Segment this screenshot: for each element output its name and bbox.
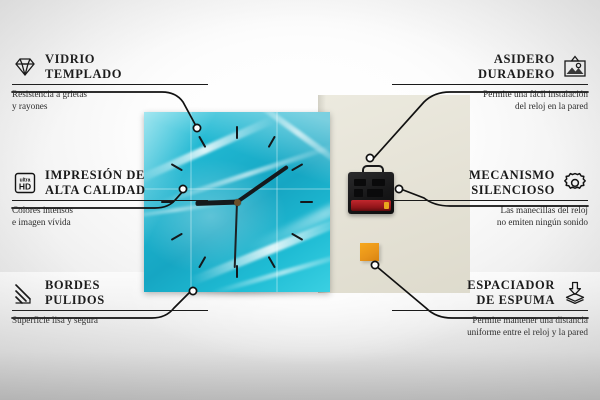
ultra-hd-icon: ultra HD <box>12 171 38 195</box>
svg-text:HD: HD <box>19 181 31 191</box>
callout-title-line2: DURADERO <box>478 67 555 82</box>
callout-title-line1: IMPRESIÓN DE <box>45 168 146 183</box>
callout-divider <box>392 84 588 85</box>
callout-asidero-duradero: ASIDERO DURADERO Permite una fácil insta… <box>392 52 588 112</box>
callout-title-line1: ASIDERO <box>478 52 555 67</box>
callout-impresion-alta-calidad: ultra HD IMPRESIÓN DE ALTA CALIDAD Color… <box>12 168 208 228</box>
callout-title-line1: VIDRIO <box>45 52 122 67</box>
callout-vidrio-templado: VIDRIO TEMPLADO Resistencia a grietas y … <box>12 52 208 112</box>
marker-ring-asidero <box>366 154 373 161</box>
callout-description: Las manecillas del reloj no emiten ningú… <box>392 205 588 228</box>
callout-desc-line1: Permite una fácil instalación <box>392 89 588 100</box>
callout-title-line2: PULIDOS <box>45 293 105 308</box>
callout-desc-line2: y rayones <box>12 101 208 112</box>
picture-frame-hanger-icon <box>562 55 588 79</box>
callout-title: MECANISMO SILENCIOSO <box>469 168 555 197</box>
marker-ring-espaciador <box>371 261 378 268</box>
callout-header: BORDES PULIDOS <box>12 278 208 307</box>
callout-desc-line2: uniforme entre el reloj y la pared <box>392 327 588 338</box>
callout-divider <box>392 200 588 201</box>
callout-description: Permite mantener una distancia uniforme … <box>392 315 588 338</box>
callout-header: ASIDERO DURADERO <box>392 52 588 81</box>
callout-title-line2: SILENCIOSO <box>469 183 555 198</box>
callout-description: Resistencia a grietas y rayones <box>12 89 208 112</box>
callout-espaciador-de-espuma: ESPACIADOR DE ESPUMA Permite mantener un… <box>392 278 588 338</box>
callout-desc-line2: no emiten ningún sonido <box>392 217 588 228</box>
callout-desc-line1: Colores intensos <box>12 205 208 216</box>
callout-header: ultra HD IMPRESIÓN DE ALTA CALIDAD <box>12 168 208 197</box>
callout-header: MECANISMO SILENCIOSO <box>392 168 588 197</box>
callout-title-line1: MECANISMO <box>469 168 555 183</box>
marker-ring-vidrio <box>193 124 200 131</box>
callout-divider <box>12 200 208 201</box>
callout-description: Colores intensos e imagen vívida <box>12 205 208 228</box>
callout-header: VIDRIO TEMPLADO <box>12 52 208 81</box>
polished-edges-icon <box>12 281 38 305</box>
callout-bordes-pulidos: BORDES PULIDOS Superficie lisa y segura <box>12 278 208 327</box>
callout-desc-line1: Resistencia a grietas <box>12 89 208 100</box>
callout-desc-line2: e imagen vívida <box>12 217 208 228</box>
callout-title: BORDES PULIDOS <box>45 278 105 307</box>
callout-title-line1: BORDES <box>45 278 105 293</box>
press-down-layers-icon <box>562 281 588 305</box>
callout-divider <box>12 310 208 311</box>
callout-title: VIDRIO TEMPLADO <box>45 52 122 81</box>
callout-divider <box>392 310 588 311</box>
callout-mecanismo-silencioso: MECANISMO SILENCIOSO Las manecillas del … <box>392 168 588 228</box>
callout-divider <box>12 84 208 85</box>
callout-desc-line1: Superficie lisa y segura <box>12 315 208 326</box>
callout-title-line1: ESPACIADOR <box>467 278 555 293</box>
gear-icon <box>562 171 588 195</box>
callout-header: ESPACIADOR DE ESPUMA <box>392 278 588 307</box>
callout-title-line2: DE ESPUMA <box>467 293 555 308</box>
infographic-canvas: VIDRIO TEMPLADO Resistencia a grietas y … <box>0 0 600 400</box>
callout-description: Permite una fácil instalación del reloj … <box>392 89 588 112</box>
callout-title: ASIDERO DURADERO <box>478 52 555 81</box>
callout-desc-line1: Las manecillas del reloj <box>392 205 588 216</box>
callout-title: IMPRESIÓN DE ALTA CALIDAD <box>45 168 146 197</box>
callout-title-line2: ALTA CALIDAD <box>45 183 146 198</box>
callout-description: Superficie lisa y segura <box>12 315 208 326</box>
diamond-icon <box>12 55 38 79</box>
callout-desc-line1: Permite mantener una distancia <box>392 315 588 326</box>
callout-desc-line2: del reloj en la pared <box>392 101 588 112</box>
callout-title-line2: TEMPLADO <box>45 67 122 82</box>
callout-title: ESPACIADOR DE ESPUMA <box>467 278 555 307</box>
